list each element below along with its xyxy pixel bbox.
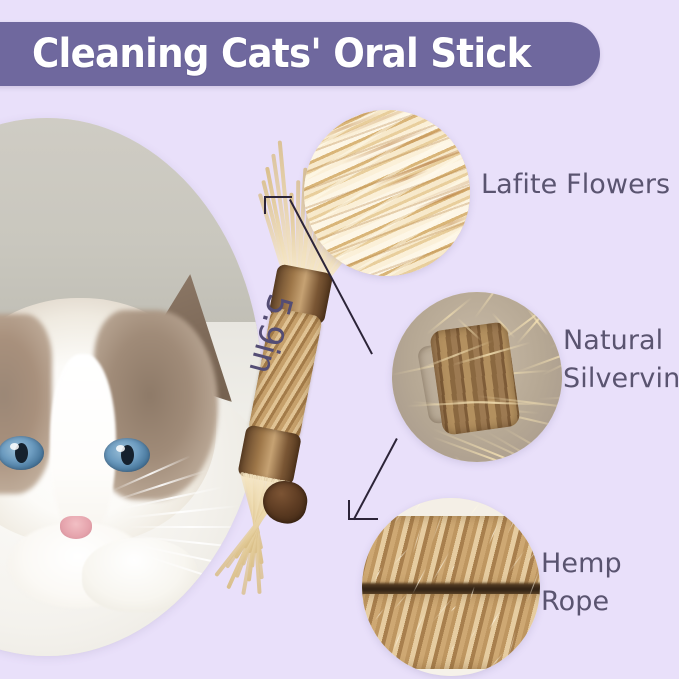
cat-nose xyxy=(60,516,92,539)
cat-eye-glint-right xyxy=(116,445,125,452)
cat-eye-left xyxy=(0,436,44,470)
page-title: Cleaning Cats' Oral Stick xyxy=(32,24,590,84)
silvervine-background xyxy=(392,292,562,462)
feature-label-hemp-rope: Hemp Rope xyxy=(541,545,679,622)
feature-swatch-lafite-flowers xyxy=(304,110,470,276)
cat-eye-right xyxy=(104,438,150,472)
feature-swatch-hemp-rope xyxy=(362,498,540,676)
infographic-canvas: Cleaning Cats' Oral Stick xyxy=(0,0,679,679)
dimension-bracket-top-horizontal xyxy=(264,196,292,198)
hemp-rope-strand-upper xyxy=(362,516,540,587)
dimension-bracket-bottom-vertical xyxy=(348,500,350,519)
hemp-rope-strand-lower xyxy=(362,594,540,669)
dimension-bracket-top-vertical xyxy=(264,196,266,214)
cat-paw xyxy=(82,538,198,612)
feature-label-lafite-flowers: Lafite Flowers xyxy=(481,166,670,204)
silvervine-chunk-primary xyxy=(429,321,521,436)
hemp-rope-texture xyxy=(362,498,540,676)
feature-label-natural-silvervine: Natural Silvervine xyxy=(563,322,679,399)
cat-eye-glint-left xyxy=(10,443,19,450)
feature-swatch-natural-silvervine xyxy=(392,292,562,462)
